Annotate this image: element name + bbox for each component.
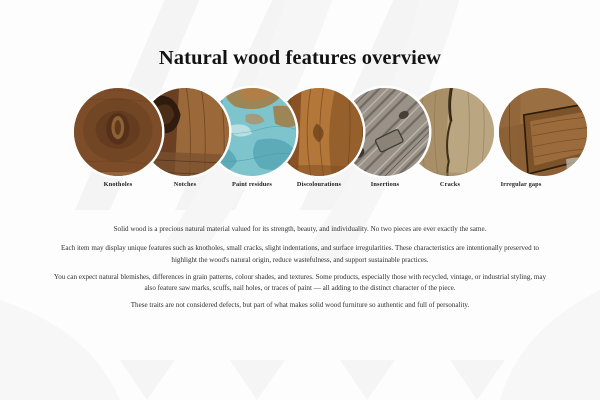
feature-label: Knotholes (74, 181, 162, 188)
paragraph-conclusion: These traits are not considered defects,… (60, 300, 540, 311)
irregular-gap-wood-swatch (499, 88, 587, 176)
document-page: Natural wood features overview (0, 0, 600, 400)
feature-label: Irregular gaps (499, 181, 543, 188)
knothole-wood-swatch (74, 88, 162, 176)
body-copy: Solid wood is a precious natural materia… (50, 224, 550, 317)
paragraph-expectations: You can expect natural blemishes, differ… (50, 272, 550, 295)
paragraph-intro: Solid wood is a precious natural materia… (50, 224, 550, 235)
page-title: Natural wood features overview (0, 47, 600, 70)
paragraph-features: Each item may display unique features su… (60, 243, 540, 266)
feature-swatch-strip: Knotholes (0, 88, 600, 198)
feature-item-knotholes[interactable]: Knotholes (74, 88, 162, 188)
